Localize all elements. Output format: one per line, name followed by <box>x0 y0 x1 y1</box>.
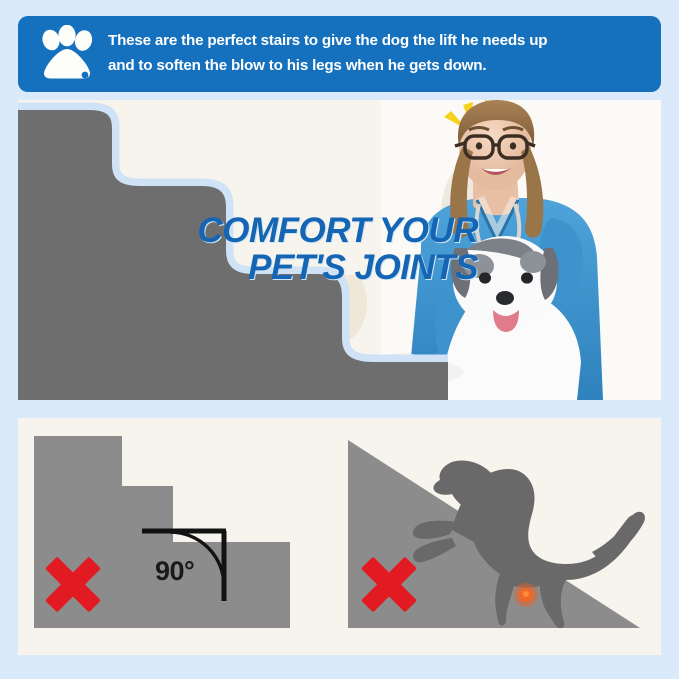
infographic-page: These are the perfect stairs to give the… <box>0 0 679 679</box>
bottom-panel <box>18 418 661 655</box>
hero-panel: COMFORT YOUR PET'S JOINTS <box>18 100 661 400</box>
page-title: COMFORT YOUR PET'S JOINTS <box>108 212 478 286</box>
banner-line-2: and to soften the blow to his legs when … <box>108 54 547 79</box>
steep-square-stairs-diagram <box>18 418 318 655</box>
page-title-line-2: PET'S JOINTS <box>108 249 478 286</box>
dog-eye-right <box>521 272 533 283</box>
dog-eye-left <box>479 272 491 283</box>
joint-pain-marker <box>514 583 538 607</box>
steep-ramp-dog-diagram <box>340 418 661 655</box>
banner-line-1: These are the perfect stairs to give the… <box>108 29 547 54</box>
page-title-line-1: COMFORT YOUR <box>108 212 478 249</box>
angle-label: 90° <box>155 556 194 587</box>
dog-nose <box>496 291 514 305</box>
banner-text: These are the perfect stairs to give the… <box>108 29 547 78</box>
header-banner: These are the perfect stairs to give the… <box>18 16 661 92</box>
paw-print-icon <box>36 25 98 83</box>
